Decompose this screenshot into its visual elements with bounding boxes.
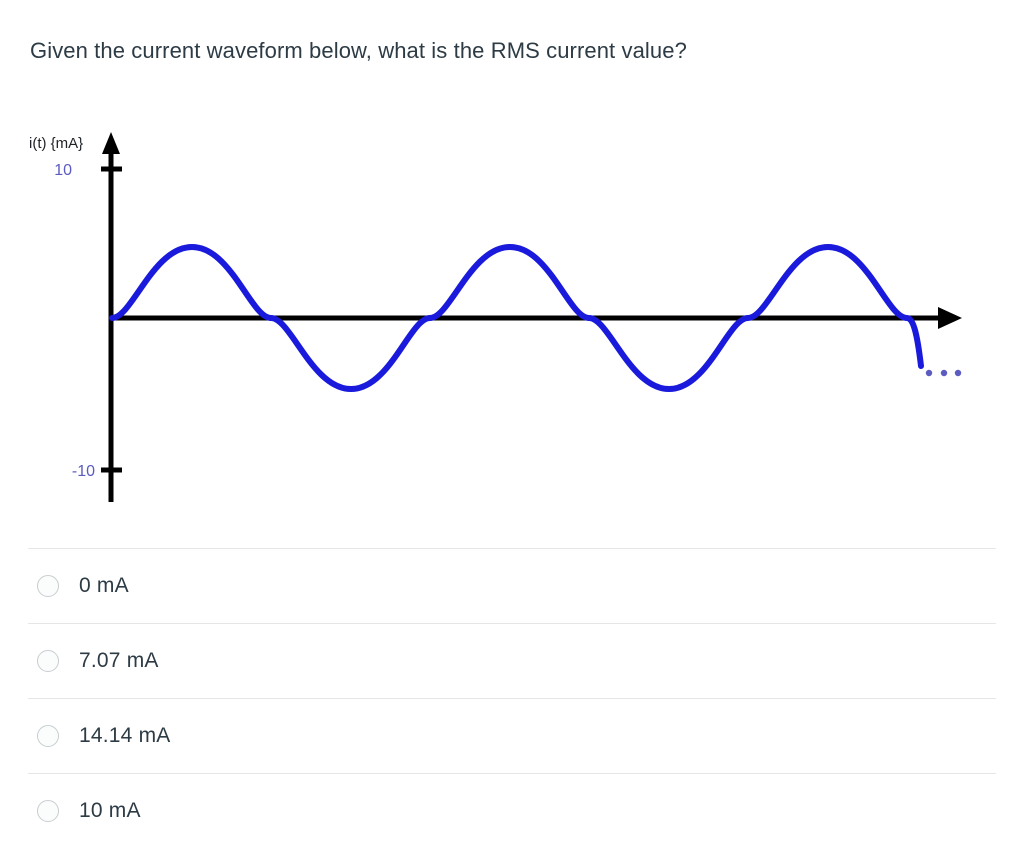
- radio-button-2[interactable]: [37, 725, 59, 747]
- radio-button-1[interactable]: [37, 650, 59, 672]
- answer-option-label-0: 0 mA: [79, 574, 129, 598]
- radio-button-0[interactable]: [37, 575, 59, 597]
- answer-option-0[interactable]: 0 mA: [28, 548, 996, 623]
- waveform-figure: i(t) {mA} 10 -10: [0, 110, 1024, 530]
- tick-label-positive: 10: [54, 162, 72, 179]
- answer-option-label-3: 10 mA: [79, 799, 141, 823]
- answer-option-label-1: 7.07 mA: [79, 649, 159, 673]
- question-prompt: Given the current waveform below, what i…: [30, 36, 687, 66]
- answer-option-label-2: 14.14 mA: [79, 724, 171, 748]
- tick-label-negative: -10: [72, 463, 95, 480]
- horizontal-axis: [111, 307, 962, 329]
- continuation-ellipsis-icon: [926, 370, 961, 376]
- answer-option-2[interactable]: 14.14 mA: [28, 698, 996, 773]
- waveform-svg: i(t) {mA} 10 -10: [0, 110, 1024, 530]
- radio-button-3[interactable]: [37, 800, 59, 822]
- answer-options-list: 0 mA 7.07 mA 14.14 mA 10 mA: [0, 548, 1024, 848]
- answer-option-1[interactable]: 7.07 mA: [28, 623, 996, 698]
- y-axis-caption: i(t) {mA}: [29, 135, 83, 152]
- answer-option-3[interactable]: 10 mA: [28, 773, 996, 848]
